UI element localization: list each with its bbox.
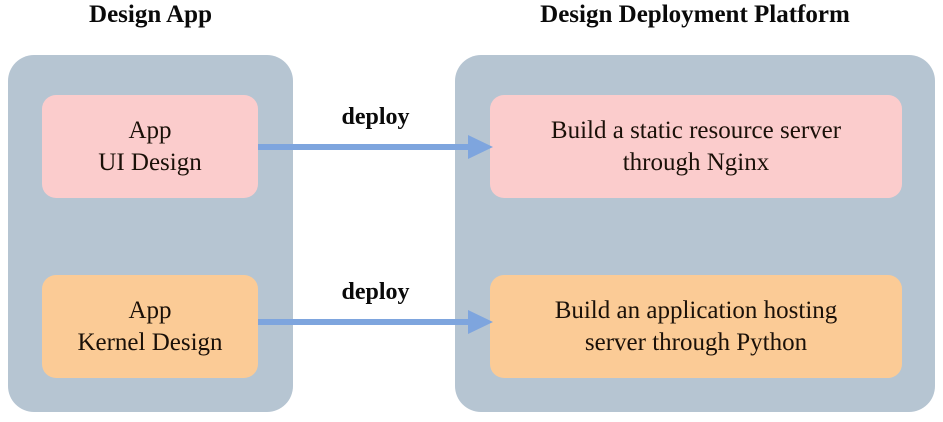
card-build-application-hosting-server-text: Build an application hosting server thro…: [555, 295, 838, 359]
card-build-application-hosting-server-line2: server through Python: [555, 327, 838, 359]
column-title-design-app: Design App: [8, 0, 293, 32]
card-app-ui-design-line2: UI Design: [98, 147, 201, 179]
connector-arrow-deploy-kernel: [258, 307, 493, 337]
card-app-ui-design[interactable]: App UI Design: [42, 95, 258, 198]
card-build-application-hosting-server[interactable]: Build an application hosting server thro…: [490, 275, 902, 378]
card-app-kernel-design-line1: App: [77, 295, 222, 327]
card-build-static-resource-server-line1: Build a static resource server: [551, 115, 841, 147]
card-build-static-resource-server[interactable]: Build a static resource server through N…: [490, 95, 902, 198]
card-app-kernel-design[interactable]: App Kernel Design: [42, 275, 258, 378]
column-title-design-deployment-platform: Design Deployment Platform: [455, 0, 935, 32]
card-build-static-resource-server-text: Build a static resource server through N…: [551, 115, 841, 179]
card-build-application-hosting-server-line1: Build an application hosting: [555, 295, 838, 327]
connector-arrow-deploy-ui: [258, 132, 493, 162]
connector-label-deploy-kernel: deploy: [258, 279, 493, 306]
connector-label-deploy-ui: deploy: [258, 104, 493, 131]
card-app-ui-design-text: App UI Design: [98, 115, 201, 179]
card-build-static-resource-server-line2: through Nginx: [551, 147, 841, 179]
arrow-head-icon: [468, 310, 493, 334]
card-app-kernel-design-line2: Kernel Design: [77, 327, 222, 359]
card-app-kernel-design-text: App Kernel Design: [77, 295, 222, 359]
card-app-ui-design-line1: App: [98, 115, 201, 147]
arrow-head-icon: [468, 135, 493, 159]
